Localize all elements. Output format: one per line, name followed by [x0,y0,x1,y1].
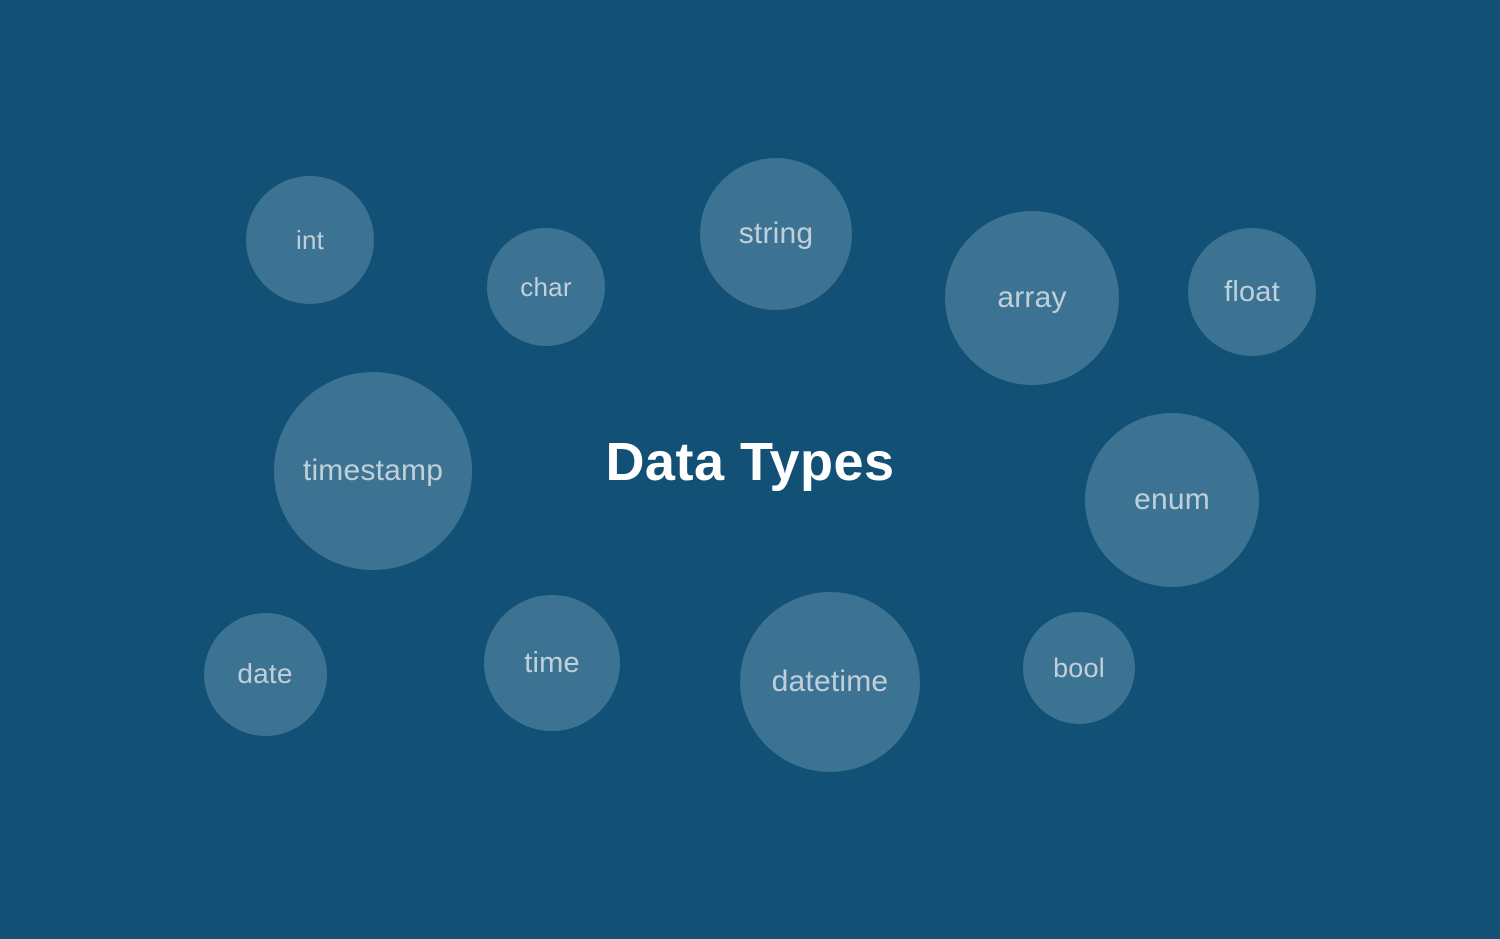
bubble-label: string [739,219,814,249]
bubble-char[interactable]: char [487,228,605,346]
bubble-label: datetime [772,667,889,697]
bubble-string[interactable]: string [700,158,852,310]
bubble-label: bool [1053,655,1105,682]
bubble-chart-canvas: intcharstringarrayfloattimestampenumdate… [0,0,1500,939]
bubble-time[interactable]: time [484,595,620,731]
bubble-bool[interactable]: bool [1023,612,1135,724]
bubble-array[interactable]: array [945,211,1119,385]
bubble-date[interactable]: date [204,613,327,736]
bubble-float[interactable]: float [1188,228,1316,356]
bubble-label: char [520,274,571,300]
bubble-label: time [524,649,580,678]
bubble-int[interactable]: int [246,176,374,304]
bubble-label: int [296,227,324,253]
page-title: Data Types [0,435,1500,489]
bubble-label: date [237,660,292,688]
bubble-label: array [997,283,1066,313]
bubble-label: float [1224,278,1280,307]
bubble-label: enum [1134,485,1210,515]
bubble-datetime[interactable]: datetime [740,592,920,772]
